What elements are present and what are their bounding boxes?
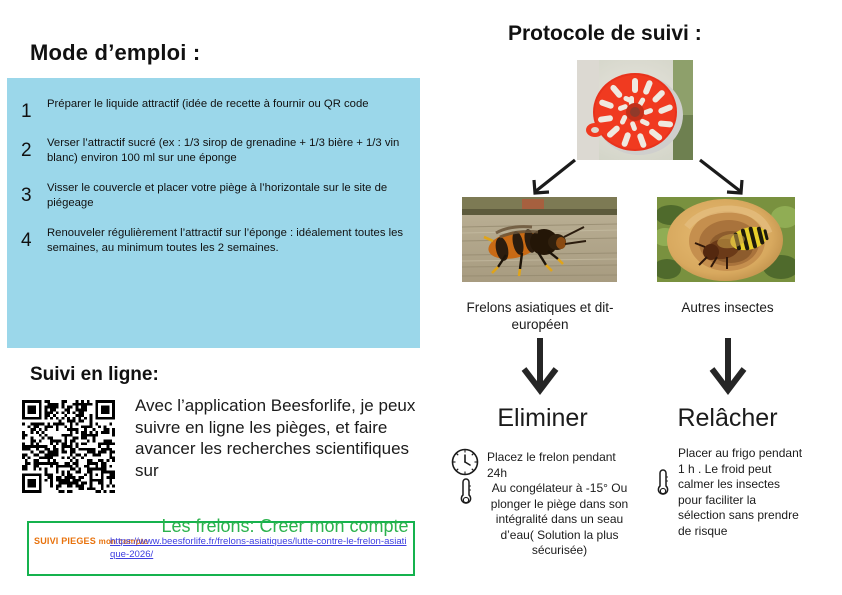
down-arrow-left: [520, 338, 560, 398]
step-number: 4: [21, 223, 47, 251]
step-text: Renouveler régulièrement l’attractif sur…: [47, 223, 414, 257]
step-text: Préparer le liquide attractif (idée de r…: [47, 94, 379, 113]
elimination-instructions: Placez le frelon pendant 24h Au congélat…: [487, 450, 632, 559]
asian-hornet-photo: [462, 197, 617, 282]
qr-code-canvas[interactable]: [22, 400, 115, 493]
page-title-protocole: Protocole de suivi :: [508, 22, 702, 46]
action-label-relacher: Relâcher: [655, 404, 800, 433]
section-title-suivi-en-ligne: Suivi en ligne:: [30, 364, 159, 386]
thermometer-icon: [458, 477, 474, 507]
list-item: 3 Visser le couvercle et placer votre pi…: [21, 178, 414, 212]
step-number: 2: [21, 133, 47, 161]
caption-asian-hornet: Frelons asiatiques et dit-européen: [465, 299, 615, 333]
release-instructions: Placer au frigo pendant 1 h . Le froid p…: [678, 446, 806, 539]
app-description-text: Avec l’application Beesforlife, je peux …: [135, 395, 425, 481]
elimination-line-1: Placez le frelon pendant 24h: [487, 450, 632, 481]
list-item: 1 Préparer le liquide attractif (idée de…: [21, 94, 414, 122]
step-number: 3: [21, 178, 47, 206]
elimination-line-rest: Au congélateur à -15° Ou plonger le pièg…: [487, 481, 632, 559]
step-text: Visser le couvercle et placer votre pièg…: [47, 178, 414, 212]
thermometer-icon: [655, 468, 671, 498]
list-item: 4 Renouveler régulièrement l’attractif s…: [21, 223, 414, 257]
step-text: Verser l’attractif sucré (ex : 1/3 sirop…: [47, 133, 414, 167]
other-insects-photo: [657, 197, 795, 282]
suivi-pieges-title: SUIVI PIEGES: [34, 536, 96, 546]
instruction-step-list: 1 Préparer le liquide attractif (idée de…: [7, 78, 420, 257]
account-url-link[interactable]: https://www.beesforlife.fr/frelons-asiat…: [110, 536, 410, 561]
list-item: 2 Verser l’attractif sucré (ex : 1/3 sir…: [21, 133, 414, 167]
step-number: 1: [21, 94, 47, 122]
caption-other-insects: Autres insectes: [660, 299, 795, 316]
qr-code[interactable]: [22, 400, 115, 493]
clock-icon: [450, 447, 480, 477]
action-label-eliminer: Eliminer: [470, 404, 615, 433]
instructions-panel: 1 Préparer le liquide attractif (idée de…: [7, 78, 420, 348]
page-title-mode-emploi: Mode d’emploi :: [30, 40, 200, 66]
down-arrow-right: [708, 338, 748, 398]
trap-lid-photo: [577, 60, 693, 160]
